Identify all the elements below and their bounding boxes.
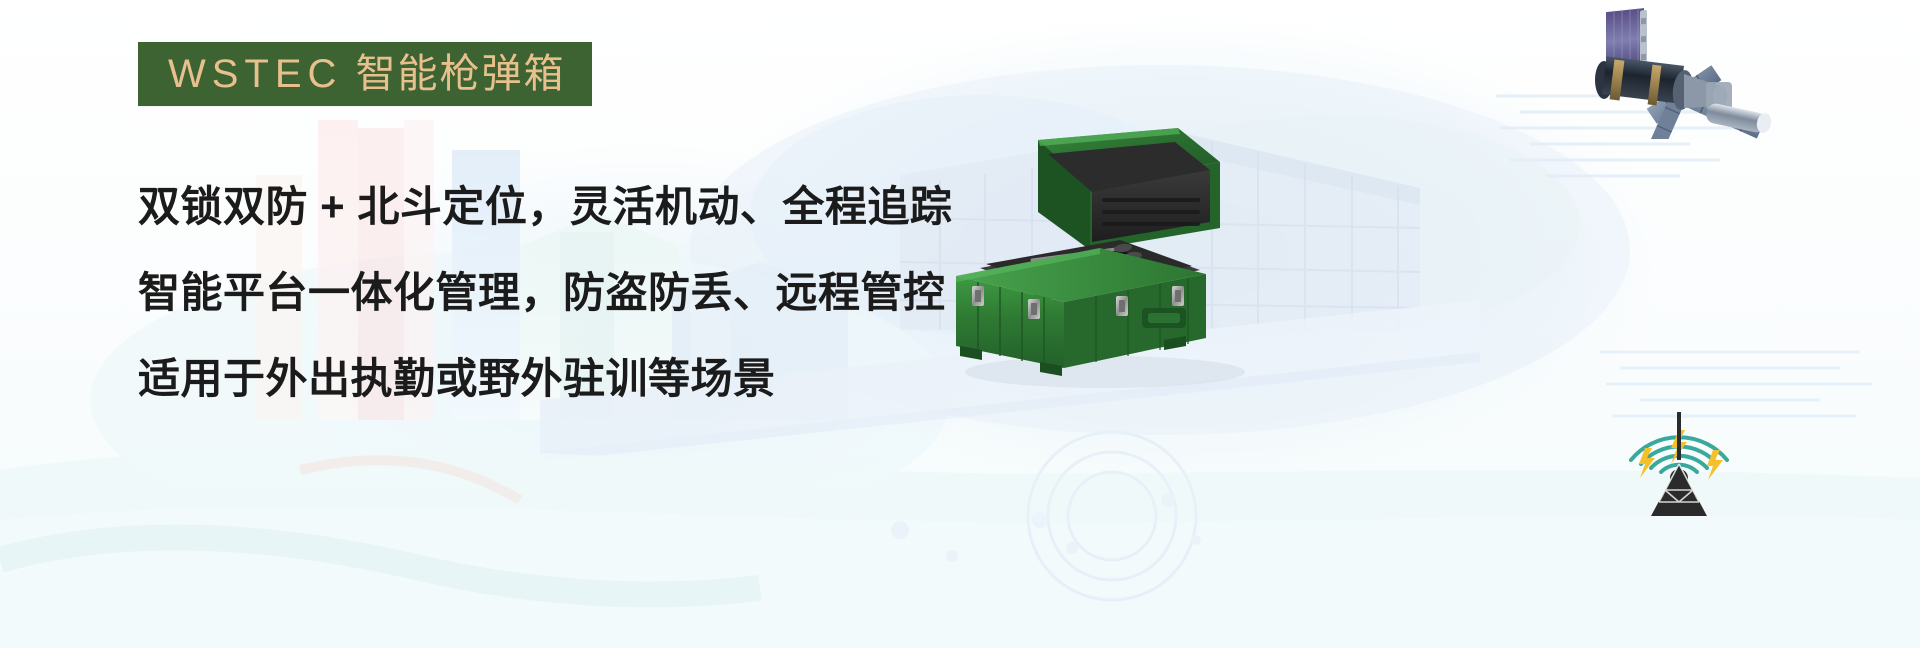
product-image-case [920, 100, 1270, 400]
feature-line-2: 智能平台一体化管理，防盗防丢、远程管控 [138, 272, 1018, 314]
title-plate: WSTEC 智能枪弹箱 [138, 42, 592, 106]
feature-list: 双锁双防 + 北斗定位，灵活机动、全程追踪 智能平台一体化管理，防盗防丢、远程管… [138, 186, 1018, 400]
tower-structure [1651, 412, 1707, 516]
page-title: WSTEC 智能枪弹箱 [168, 54, 566, 94]
green-case-illustration [920, 100, 1270, 400]
product-banner: WSTEC 智能枪弹箱 双锁双防 + 北斗定位，灵活机动、全程追踪 智能平台一体… [0, 0, 1920, 648]
product-name: 智能枪弹箱 [356, 52, 566, 96]
satellite-body [1595, 56, 1695, 111]
case-lid [1038, 128, 1220, 250]
signal-tower-icon [1595, 338, 1785, 518]
satellite-icon [1588, 4, 1778, 139]
feature-line-3: 适用于外出执勤或野外驻训等场景 [138, 358, 1018, 400]
brand-name: WSTEC [168, 52, 342, 96]
feature-line-1: 双锁双防 + 北斗定位，灵活机动、全程追踪 [138, 186, 1018, 228]
